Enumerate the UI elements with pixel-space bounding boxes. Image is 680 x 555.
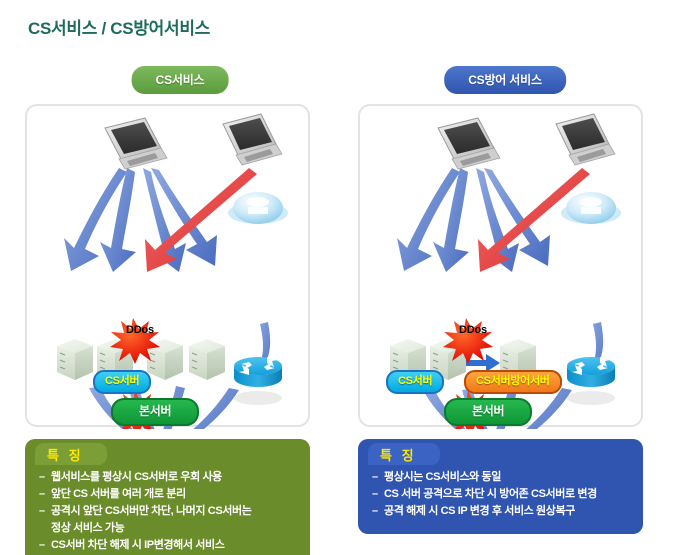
feature-box-cs-service: 특 징 웹서비스를 평상시 CS서버로 우회 사용 앞단 CS 서버를 여러 개… xyxy=(25,439,310,555)
laptop-right-icon-right xyxy=(556,114,615,165)
main-server-label-right: 본서버 xyxy=(444,398,532,426)
feature-heading-right: 특 징 xyxy=(380,445,417,464)
diagram-stage-right: DDos CS서버 CS서버방어서버 본서버 xyxy=(360,106,641,425)
feature-box-cs-defense-service: 특 징 평상시는 CS서비스와 동일 CS 서버 공격으로 차단 시 방어존 C… xyxy=(358,439,643,534)
cloud-icon-right xyxy=(561,192,621,224)
feature-item-continued: 정상 서비스 가능 xyxy=(39,520,296,536)
panel-badge-cs-defense-service: CS방어 서비스 xyxy=(444,66,566,94)
diagram-stage-left: DDos CS서버 본서버 xyxy=(27,106,308,425)
feature-heading-left: 특 징 xyxy=(47,445,84,464)
cloud-icon-left xyxy=(228,192,288,224)
laptop-right-icon xyxy=(223,114,282,165)
diagram-panel-cs-defense-service: DDos CS서버 CS서버방어서버 본서버 xyxy=(358,104,643,427)
column-cs-defense-service: CS방어 서비스 xyxy=(350,64,660,544)
panel-badge-cs-service: CS서비스 xyxy=(132,66,229,94)
page-title: CS서비스 / CS방어서비스 xyxy=(28,14,210,39)
ddos-label-right: DDos xyxy=(459,324,487,336)
cs-server-label-right: CS서버 xyxy=(386,370,444,394)
feature-item: 평상시는 CS서비스와 동일 xyxy=(372,469,629,485)
cs-server-label-left: CS서버 xyxy=(93,370,151,394)
diagram-panel-cs-service: DDos CS서버 본서버 xyxy=(25,104,310,427)
main-server-label-left: 본서버 xyxy=(111,398,199,426)
diagram-graphics-left xyxy=(27,106,312,429)
feature-item: 앞단 CS 서버를 여러 개로 분리 xyxy=(39,486,296,502)
feature-item: CS서버 차단 해제 시 IP변경해서 서비스 xyxy=(39,537,296,553)
column-cs-service: CS서비스 xyxy=(25,64,335,544)
feature-list-right: 평상시는 CS서비스와 동일 CS 서버 공격으로 차단 시 방어존 CS서버로… xyxy=(372,469,629,519)
diagram-page: CS서비스 / CS방어서비스 CS서비스 xyxy=(0,0,680,555)
feature-list-left: 웹서비스를 평상시 CS서버로 우회 사용 앞단 CS 서버를 여러 개로 분리… xyxy=(39,469,296,553)
ddos-label-left: DDos xyxy=(126,324,154,336)
router-icon-right xyxy=(567,357,615,405)
feature-item: 공격시 앞단 CS서버만 차단, 나머지 CS서버는 xyxy=(39,503,296,519)
feature-item: 웹서비스를 평상시 CS서버로 우회 사용 xyxy=(39,469,296,485)
router-icon-left xyxy=(234,357,282,405)
defense-server-label-right: CS서버방어서버 xyxy=(464,370,562,394)
feature-item: CS 서버 공격으로 차단 시 방어존 CS서버로 변경 xyxy=(372,486,629,502)
feature-item: 공격 해제 시 CS IP 변경 후 서비스 원상복구 xyxy=(372,503,629,519)
laptop-left-icon xyxy=(105,118,167,169)
laptop-left-icon-right xyxy=(438,118,500,169)
